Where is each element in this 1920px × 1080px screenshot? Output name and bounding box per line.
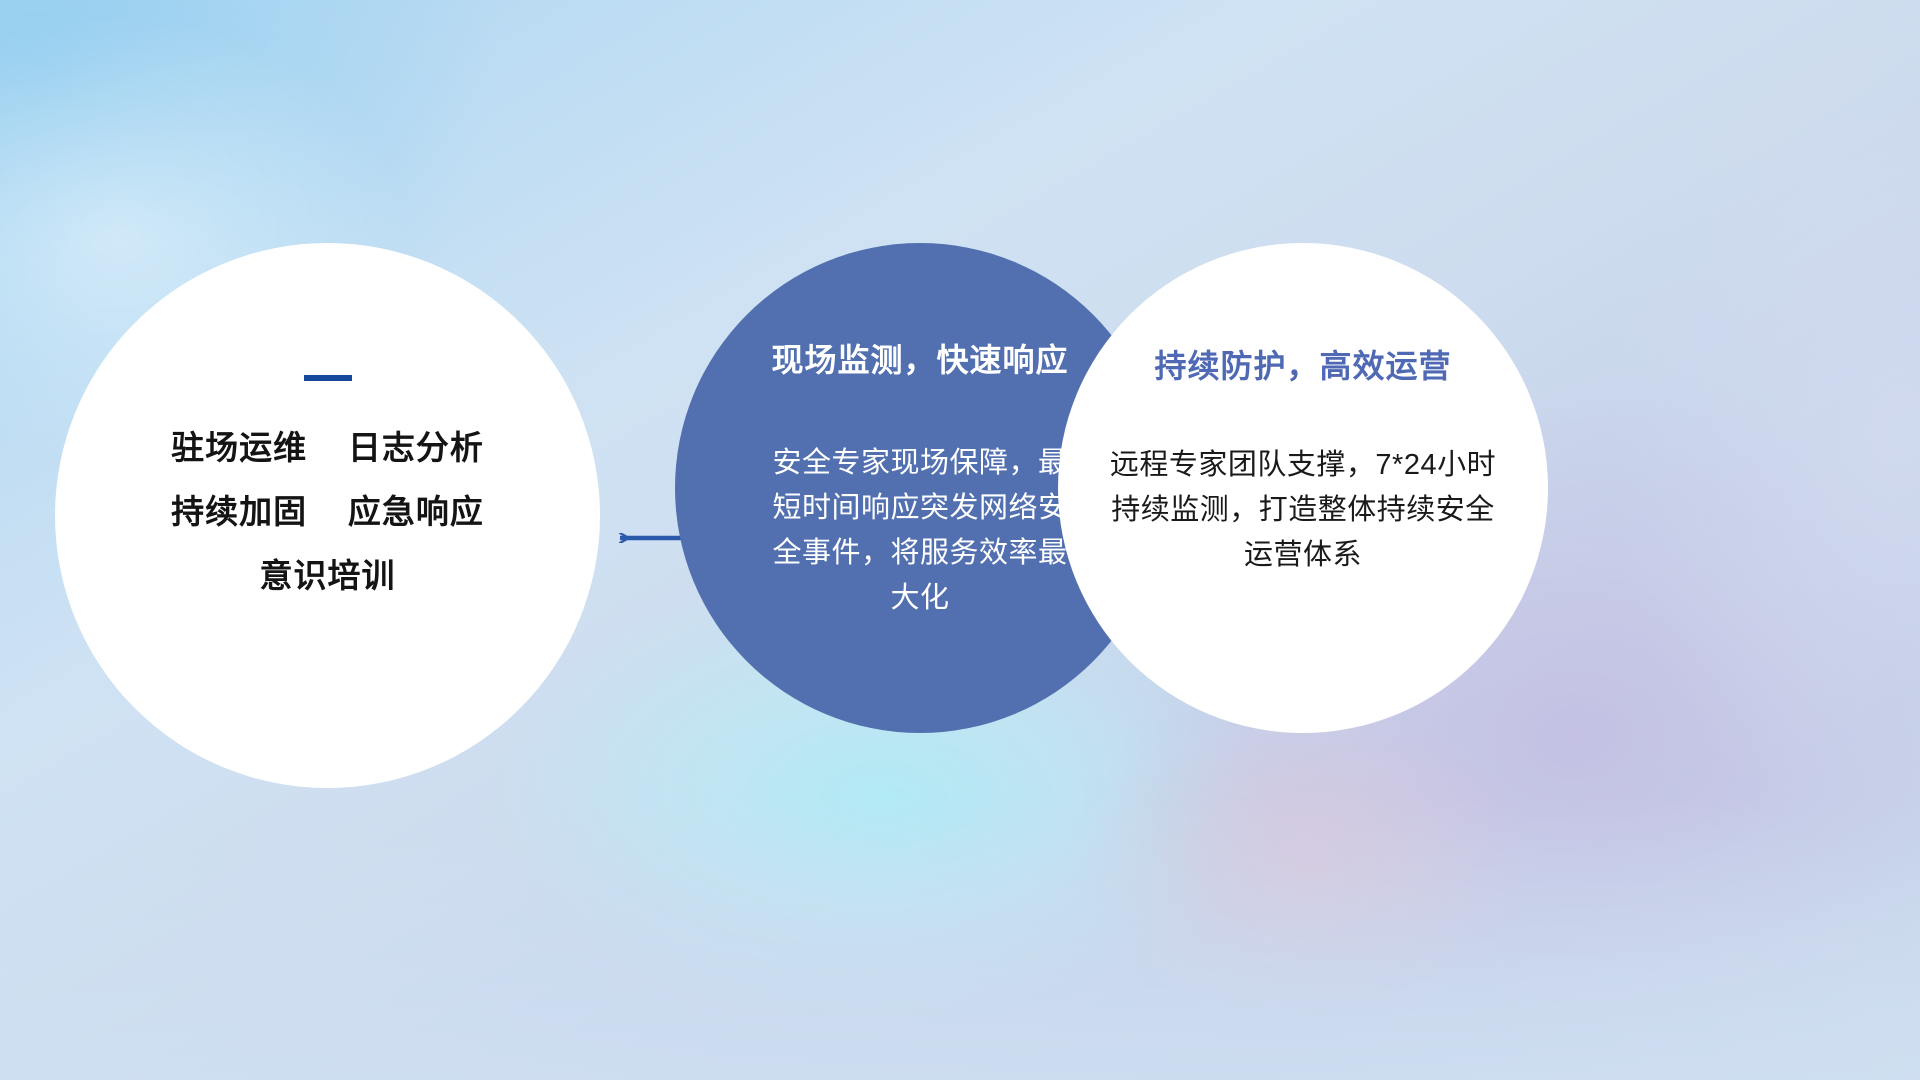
- onsite-monitoring-heading: 现场监测，快速响应: [771, 341, 1068, 379]
- slide-canvas: 驻场运维 日志分析 持续加固 应急响应 意识培训 现场监测，快速响应 安全专家现…: [0, 0, 1920, 1080]
- capability-line-2: 持续加固 应急响应: [171, 493, 484, 531]
- capability-line-3: 意识培训: [260, 557, 396, 595]
- continuous-protection-heading: 持续防护，高效运营: [1154, 347, 1451, 385]
- capability-line-1: 驻场运维 日志分析: [171, 429, 484, 467]
- continuous-protection-body: 远程专家团队支撑，7*24小时持续监测，打造整体持续安全运营体系: [1098, 443, 1508, 578]
- accent-dash-icon: [304, 375, 352, 381]
- capability-list: 驻场运维 日志分析 持续加固 应急响应 意识培训: [171, 429, 484, 595]
- onsite-monitoring-body: 安全专家现场保障，最短时间响应突发网络安全事件，将服务效率最大化: [770, 441, 1070, 621]
- capability-circle-left[interactable]: 驻场运维 日志分析 持续加固 应急响应 意识培训: [55, 243, 600, 788]
- continuous-protection-circle[interactable]: 持续防护，高效运营 远程专家团队支撑，7*24小时持续监测，打造整体持续安全运营…: [1058, 243, 1548, 733]
